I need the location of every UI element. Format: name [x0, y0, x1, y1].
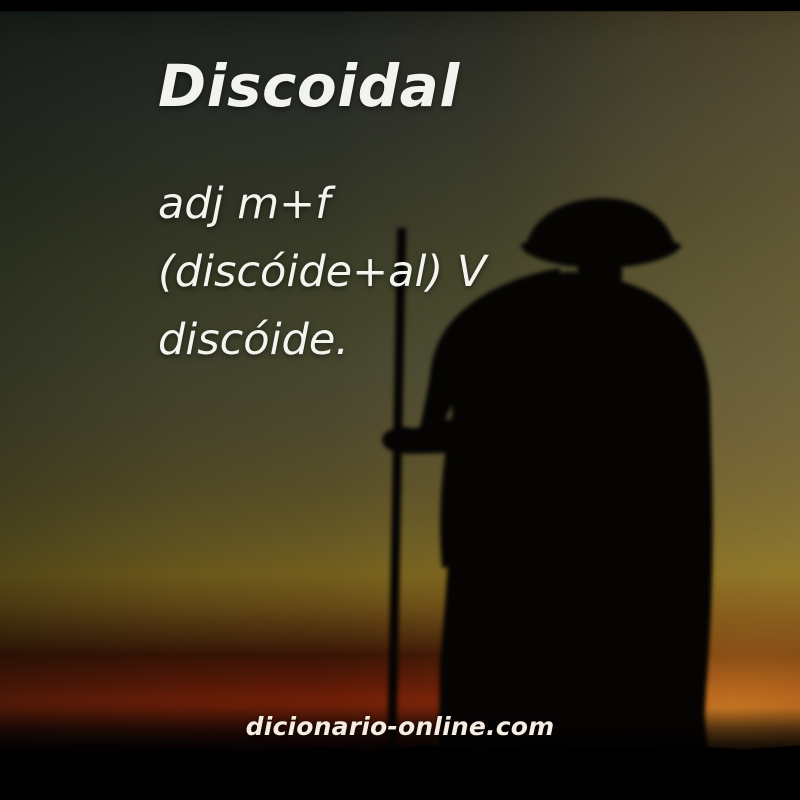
page-title: Discoidal	[158, 52, 460, 120]
definition-line-1: adj m+f	[158, 170, 578, 238]
definition-line-3: discóide.	[158, 306, 578, 374]
definition-line-2: (discóide+al) V	[158, 238, 578, 306]
definition-block: adj m+f (discóide+al) V discóide.	[158, 170, 578, 374]
text-layer: Discoidal adj m+f (discóide+al) V discói…	[0, 0, 800, 800]
site-watermark[interactable]: dicionario-online.com	[0, 712, 800, 741]
dictionary-entry-card: Discoidal adj m+f (discóide+al) V discói…	[0, 0, 800, 800]
